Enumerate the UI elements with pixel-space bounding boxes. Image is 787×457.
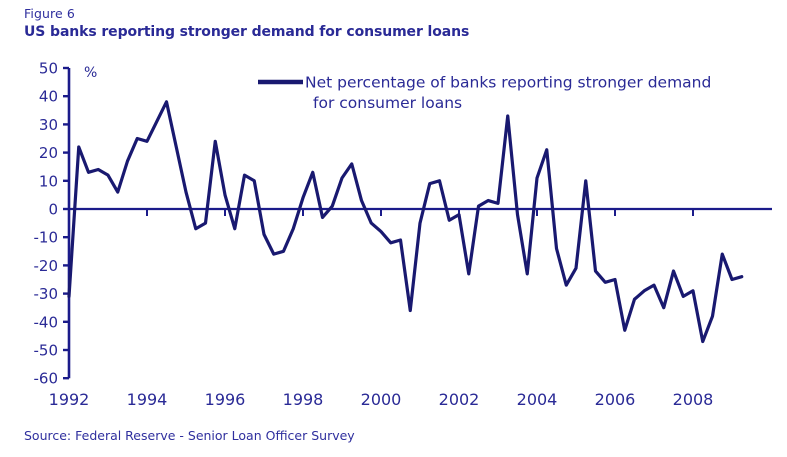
- y-tick-label: 0: [48, 201, 58, 219]
- y-tick-label: -40: [34, 313, 59, 331]
- x-tick-label: 2000: [361, 390, 402, 409]
- y-tick-label: 40: [39, 88, 58, 106]
- x-tick-label: 1998: [283, 390, 324, 409]
- x-tick-label: 1996: [205, 390, 246, 409]
- y-tick-label: 50: [39, 60, 58, 78]
- y-axis: 50403020100-10-20-30-40-50-60: [34, 60, 70, 388]
- y-tick-label: -50: [34, 342, 59, 360]
- unit-label: %: [84, 65, 97, 81]
- line-chart: 50403020100-10-20-30-40-50-60 1992199419…: [0, 0, 787, 430]
- x-tick-label: 2008: [673, 390, 714, 409]
- x-tick-label: 1992: [49, 390, 90, 409]
- legend-label-line2: for consumer loans: [313, 94, 462, 112]
- y-tick-label: 10: [39, 172, 58, 190]
- y-tick-label: -30: [34, 285, 59, 303]
- x-axis: 199219941996199820002002200420062008: [49, 209, 714, 409]
- source-note: Source: Federal Reserve - Senior Loan Of…: [24, 428, 355, 443]
- chart-container: 50403020100-10-20-30-40-50-60 1992199419…: [0, 0, 787, 430]
- y-tick-label: -60: [34, 370, 59, 388]
- y-tick-label: 30: [39, 116, 58, 134]
- x-tick-label: 2004: [517, 390, 558, 409]
- y-tick-label: 20: [39, 144, 58, 162]
- legend-label-line1: Net percentage of banks reporting strong…: [305, 74, 711, 92]
- x-tick-label: 2002: [439, 390, 480, 409]
- series-line-0: [69, 102, 742, 342]
- y-tick-label: -10: [34, 229, 59, 247]
- x-tick-label: 1994: [127, 390, 168, 409]
- chart-legend: Net percentage of banks reporting strong…: [258, 74, 711, 113]
- x-tick-label: 2006: [595, 390, 636, 409]
- data-series: [69, 102, 742, 342]
- y-tick-label: -20: [34, 257, 59, 275]
